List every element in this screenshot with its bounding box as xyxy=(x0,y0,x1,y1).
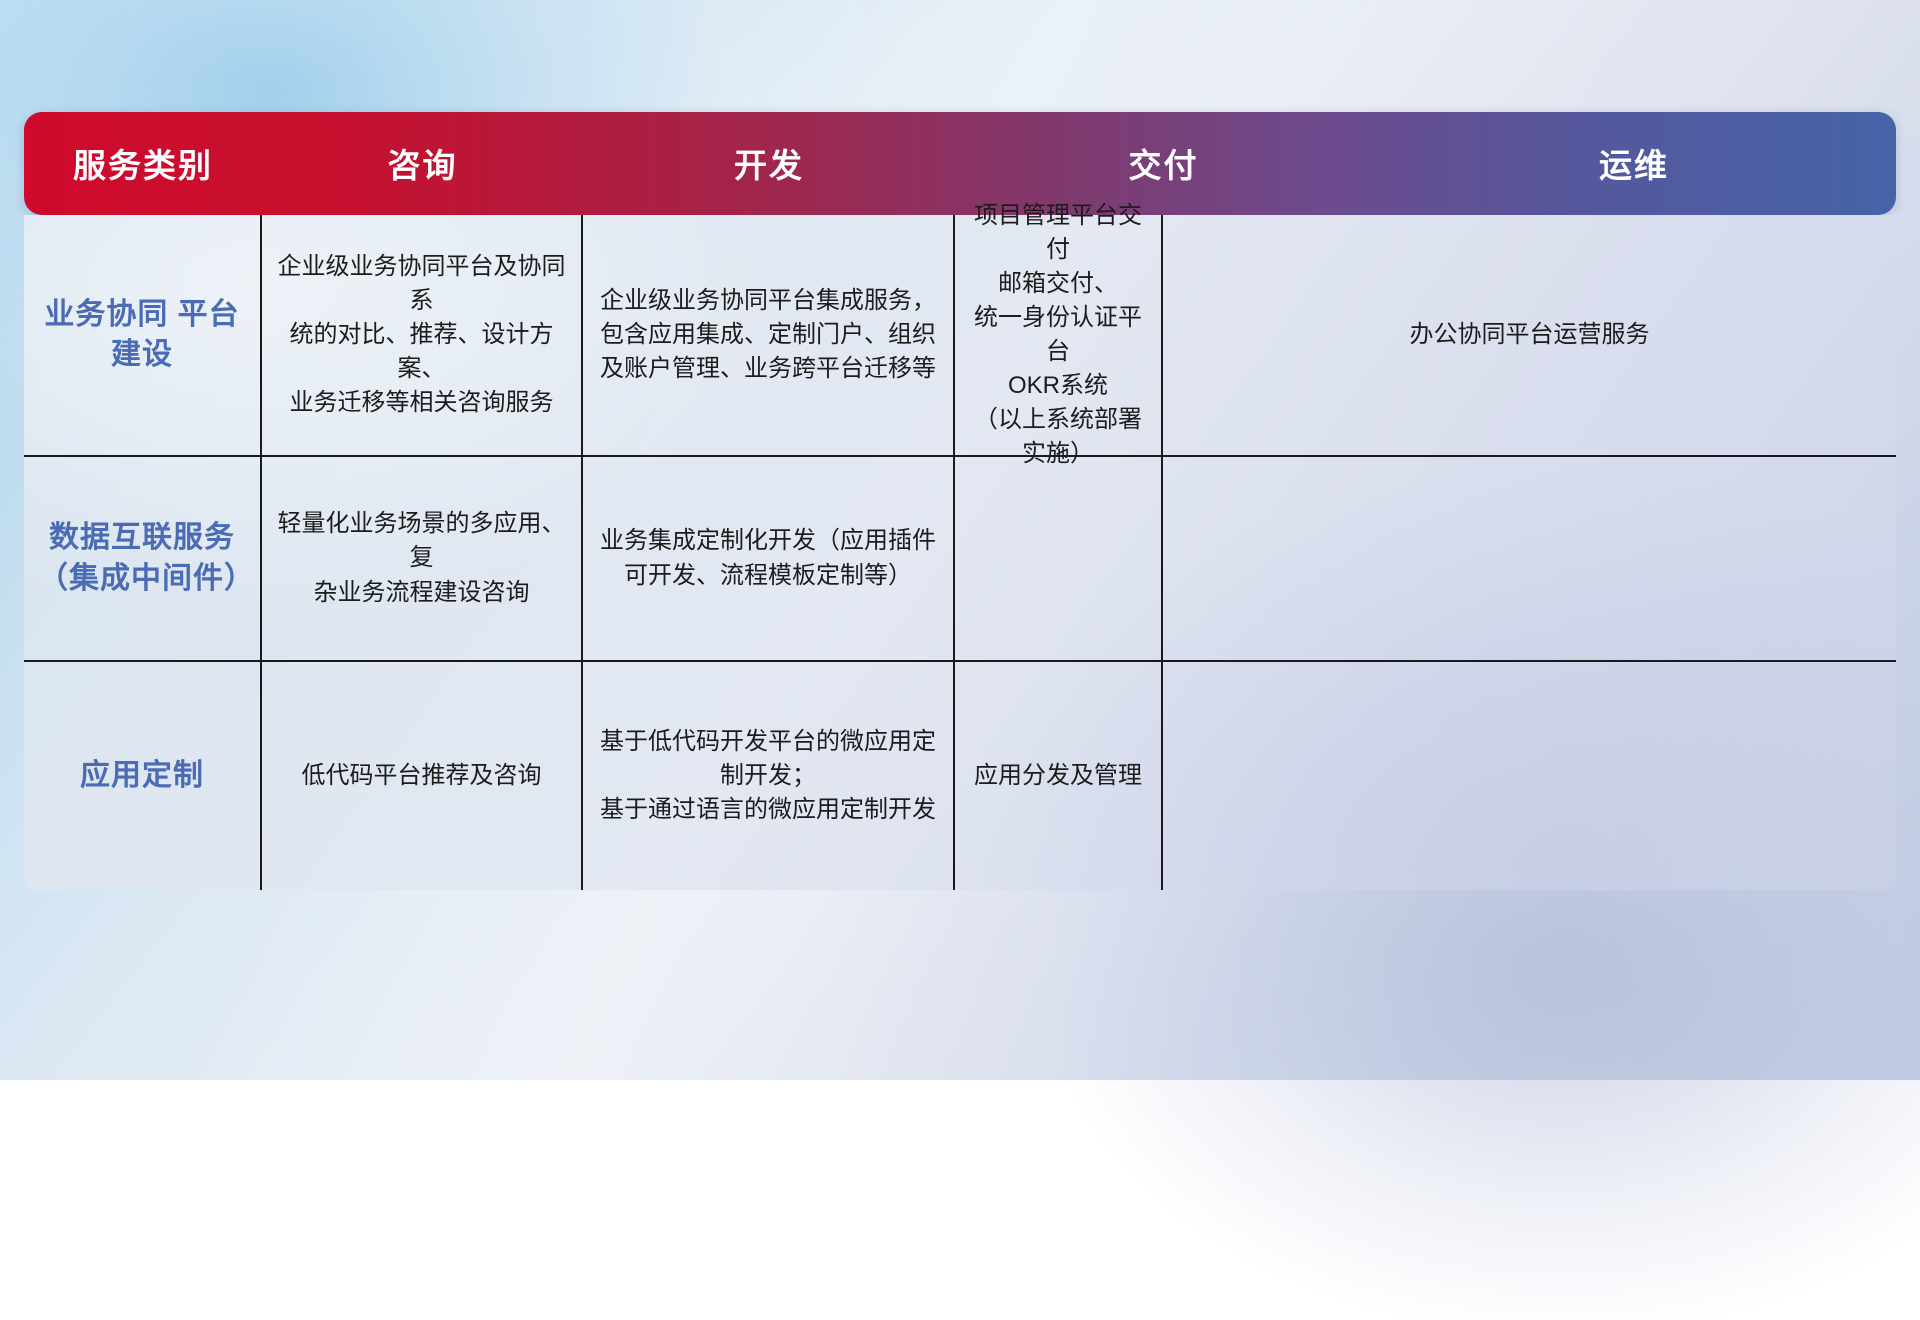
cell-text: 企业级业务协同平台及协同系 统的对比、推荐、设计方案、 业务迁移等相关咨询服务 xyxy=(276,250,567,420)
row-category-label: 业务协同 平台建设 xyxy=(38,295,246,375)
cell-text: 项目管理平台交付 邮箱交付、 统一身份认证平台 OKR系统 （以上系统部署实施） xyxy=(969,199,1147,472)
table-header-row: 服务类别 咨询 开发 交付 运维 xyxy=(24,112,1896,215)
slide-canvas: 服务类别 咨询 开发 交付 运维 业务协同 平台建设 企业级业务协同平台及协同系… xyxy=(0,0,1920,1080)
cell-consulting: 企业级业务协同平台及协同系 统的对比、推荐、设计方案、 业务迁移等相关咨询服务 xyxy=(262,215,583,455)
column-header-operations: 运维 xyxy=(1372,112,1896,215)
row-category-label: 数据互联服务 （集成中间件） xyxy=(38,518,246,598)
column-header-consulting: 咨询 xyxy=(262,112,583,215)
column-header-service-category: 服务类别 xyxy=(24,112,262,215)
cell-text: 基于低代码开发平台的微应用定 制开发； 基于通过语言的微应用定制开发 xyxy=(600,725,936,827)
cell-text: 业务集成定制化开发（应用插件 可开发、流程模板定制等） xyxy=(600,524,936,592)
cell-text: 办公协同平台运营服务 xyxy=(1410,318,1650,352)
cell-delivery: 应用分发及管理 xyxy=(955,662,1163,890)
cell-development: 基于低代码开发平台的微应用定 制开发； 基于通过语言的微应用定制开发 xyxy=(583,662,955,890)
cell-text: 轻量化业务场景的多应用、复 杂业务流程建设咨询 xyxy=(276,507,567,609)
row-category-cell: 业务协同 平台建设 xyxy=(24,215,262,455)
cell-consulting: 轻量化业务场景的多应用、复 杂业务流程建设咨询 xyxy=(262,457,583,660)
cell-text: 企业级业务协同平台集成服务， 包含应用集成、定制门户、组织 及账户管理、业务跨平… xyxy=(600,284,936,386)
cell-development: 企业级业务协同平台集成服务， 包含应用集成、定制门户、组织 及账户管理、业务跨平… xyxy=(583,215,955,455)
row-category-label: 应用定制 xyxy=(80,756,204,796)
row-category-cell: 数据互联服务 （集成中间件） xyxy=(24,457,262,660)
column-header-development: 开发 xyxy=(583,112,955,215)
cell-delivery xyxy=(955,457,1163,660)
table-row: 应用定制 低代码平台推荐及咨询 基于低代码开发平台的微应用定 制开发； 基于通过… xyxy=(24,662,1896,890)
cell-operations: 办公协同平台运营服务 xyxy=(1163,215,1896,455)
table-body: 业务协同 平台建设 企业级业务协同平台及协同系 统的对比、推荐、设计方案、 业务… xyxy=(24,215,1896,890)
service-matrix-table: 服务类别 咨询 开发 交付 运维 业务协同 平台建设 企业级业务协同平台及协同系… xyxy=(24,112,1896,890)
row-category-cell: 应用定制 xyxy=(24,662,262,890)
cell-operations xyxy=(1163,457,1896,660)
cell-text: 应用分发及管理 xyxy=(974,759,1142,793)
cell-development: 业务集成定制化开发（应用插件 可开发、流程模板定制等） xyxy=(583,457,955,660)
cell-text: 低代码平台推荐及咨询 xyxy=(302,759,542,793)
cell-operations xyxy=(1163,662,1896,890)
cell-consulting: 低代码平台推荐及咨询 xyxy=(262,662,583,890)
table-row: 数据互联服务 （集成中间件） 轻量化业务场景的多应用、复 杂业务流程建设咨询 业… xyxy=(24,457,1896,662)
table-row: 业务协同 平台建设 企业级业务协同平台及协同系 统的对比、推荐、设计方案、 业务… xyxy=(24,215,1896,457)
cell-delivery: 项目管理平台交付 邮箱交付、 统一身份认证平台 OKR系统 （以上系统部署实施） xyxy=(955,215,1163,455)
